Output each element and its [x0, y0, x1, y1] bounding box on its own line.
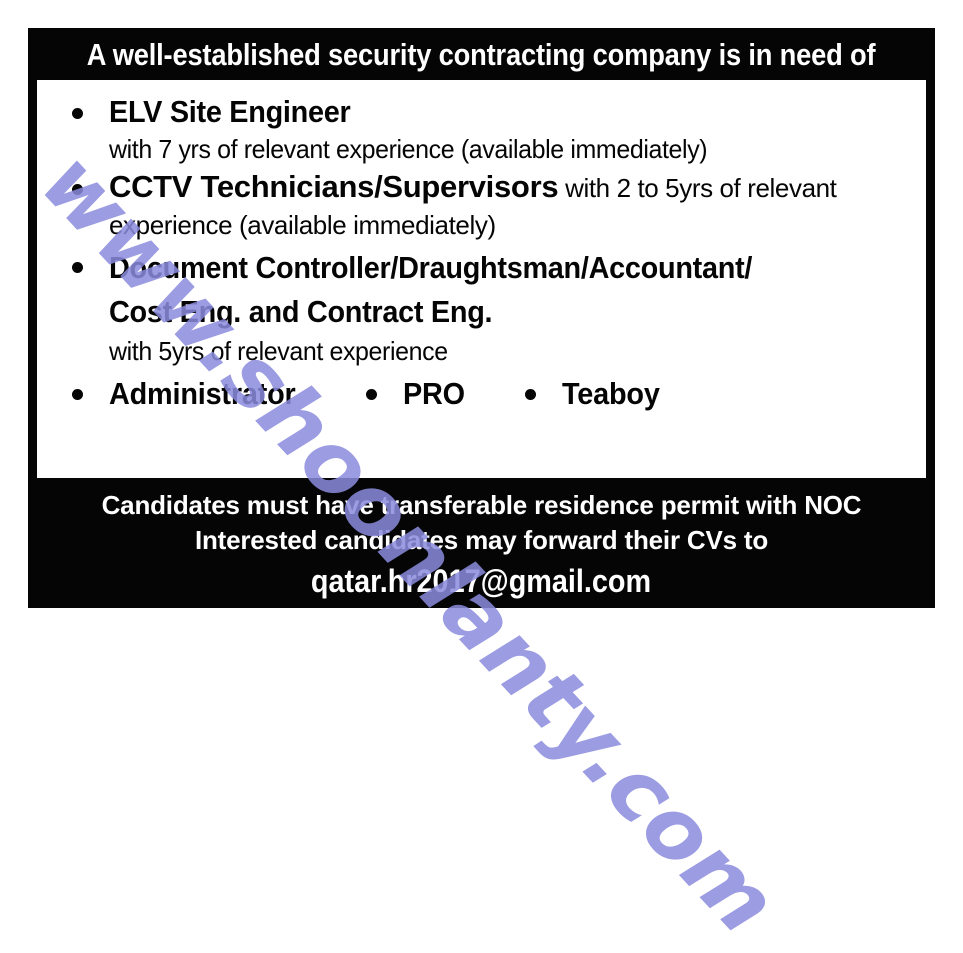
bullet-dot-icon	[72, 184, 83, 195]
job-title-line-1: Document Controller/Draughtsman/Accounta…	[109, 246, 860, 290]
bullet-dot-icon	[72, 389, 83, 400]
job-description: with 5yrs of relevant experience	[109, 334, 884, 368]
job-title: ELV Site Engineer	[109, 92, 860, 132]
advertisement-header: A well-established security contracting …	[28, 28, 935, 80]
contact-email[interactable]: qatar.hr2017@gmail.com	[311, 560, 651, 602]
footer-instruction-text: Interested candidates may forward their …	[28, 523, 935, 558]
advertisement-footer: Candidates must have transferable reside…	[28, 478, 935, 608]
bullet-dot-icon	[72, 262, 83, 273]
role-label-administrator: Administrator	[109, 374, 296, 414]
list-item: ELV Site Engineer with 7 yrs of relevant…	[47, 92, 916, 166]
role-label-teaboy: Teaboy	[562, 374, 660, 414]
bullet-dot-icon	[366, 389, 377, 400]
job-title: CCTV Technicians/Supervisors	[109, 169, 558, 204]
list-item: Teaboy	[525, 374, 667, 414]
list-item: PRO	[366, 374, 470, 414]
footer-requirement-text: Candidates must have transferable reside…	[28, 488, 935, 523]
role-label-pro: PRO	[403, 374, 465, 414]
advertisement-canvas: A well-established security contracting …	[0, 0, 963, 630]
job-list: ELV Site Engineer with 7 yrs of relevant…	[47, 92, 916, 368]
job-listing-panel: ELV Site Engineer with 7 yrs of relevant…	[37, 80, 926, 478]
job-description: with 7 yrs of relevant experience (avail…	[109, 132, 884, 166]
job-entry-inline: CCTV Technicians/Supervisors with 2 to 5…	[109, 173, 837, 240]
short-roles-row: Administrator PRO Teaboy	[47, 374, 916, 414]
advertisement-block: A well-established security contracting …	[28, 28, 935, 608]
bullet-dot-icon	[525, 389, 536, 400]
list-item: Document Controller/Draughtsman/Accounta…	[47, 246, 916, 368]
list-item: Administrator	[72, 374, 310, 414]
bullet-dot-icon	[72, 108, 83, 119]
job-title-line-2: Cost Eng. and Contract Eng.	[109, 290, 860, 334]
header-headline: A well-established security contracting …	[87, 39, 876, 70]
list-item: CCTV Technicians/Supervisors with 2 to 5…	[47, 168, 916, 244]
